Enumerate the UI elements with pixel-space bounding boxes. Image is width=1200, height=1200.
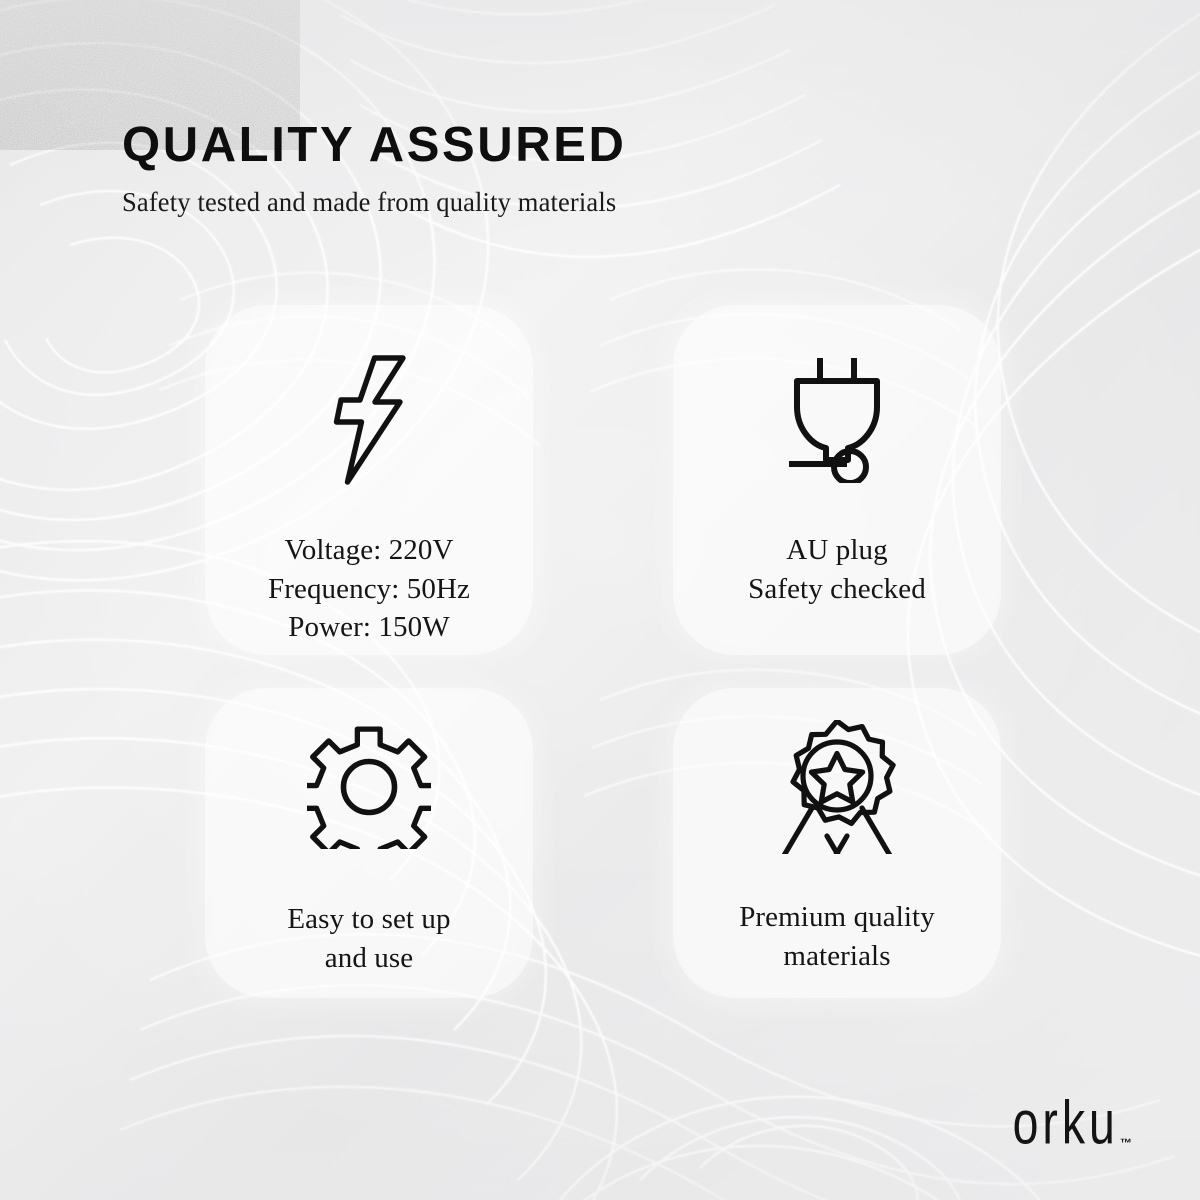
feature-card-premium-text: Premium quality materials	[739, 898, 935, 975]
feature-card-premium: Premium quality materials	[673, 688, 1001, 998]
brand-name: orku	[1013, 1093, 1119, 1154]
infographic-page: QUALITY ASSURED Safety tested and made f…	[0, 0, 1200, 1200]
lightning-bolt-icon	[205, 335, 533, 505]
power-plug-icon	[673, 335, 1001, 505]
page-subtitle: Safety tested and made from quality mate…	[122, 185, 616, 218]
feature-card-plug-text: AU plug Safety checked	[748, 531, 926, 608]
trademark-symbol: ™	[1120, 1136, 1132, 1150]
feature-card-voltage-text: Voltage: 220V Frequency: 50Hz Power: 150…	[268, 531, 470, 647]
brand-logo: orku ™	[986, 1096, 1132, 1154]
feature-card-setup-text: Easy to set up and use	[287, 900, 450, 977]
page-title: QUALITY ASSURED	[122, 120, 634, 171]
gear-icon	[205, 712, 533, 862]
award-badge-icon	[673, 712, 1001, 862]
feature-card-plug: AU plug Safety checked	[673, 305, 1001, 655]
feature-card-voltage: Voltage: 220V Frequency: 50Hz Power: 150…	[205, 305, 533, 655]
feature-card-grid: Voltage: 220V Frequency: 50Hz Power: 150…	[205, 305, 1010, 998]
header-block: QUALITY ASSURED Safety tested and made f…	[122, 120, 634, 218]
feature-card-setup: Easy to set up and use	[205, 688, 533, 998]
